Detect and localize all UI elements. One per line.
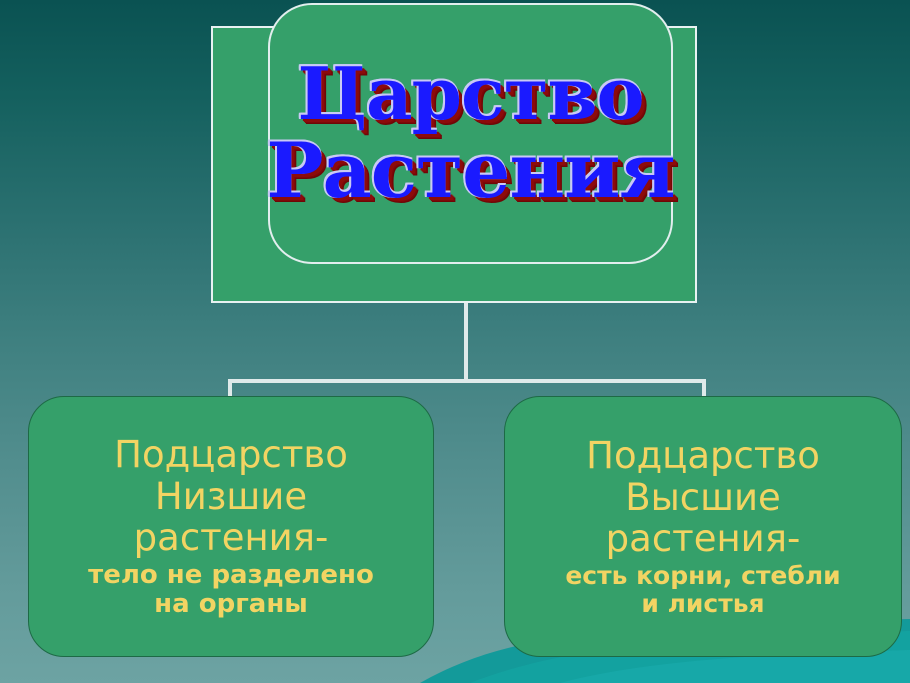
node-lower-plants-title-line-3: растения-: [114, 517, 348, 558]
node-higher-plants-desc-line-2: и листья: [565, 590, 840, 618]
title-line-1: Царство: [297, 59, 643, 130]
node-higher-plants-title: Подцарство Высшие растения-: [586, 435, 820, 559]
kingdom-title-card: Царство Растения: [268, 3, 673, 264]
node-lower-plants-desc-line-1: тело не разделено: [88, 561, 374, 590]
node-higher-plants-desc-line-1: есть корни, стебли: [565, 562, 840, 590]
title-line-2: Растения: [266, 134, 674, 208]
connector-vertical-trunk: [464, 303, 468, 383]
node-lower-plants-desc-line-2: на органы: [88, 590, 374, 619]
connector-horizontal-bar: [228, 379, 706, 383]
node-higher-plants-title-line-2: Высшие: [586, 477, 820, 518]
node-lower-plants: Подцарство Низшие растения- тело не разд…: [28, 396, 434, 657]
node-lower-plants-description: тело не разделено на органы: [88, 561, 374, 619]
slide-canvas: Царство Растения Подцарство Низшие расте…: [0, 0, 910, 683]
node-lower-plants-title-line-1: Подцарство: [114, 434, 348, 475]
node-lower-plants-title: Подцарство Низшие растения-: [114, 434, 348, 558]
node-higher-plants-title-line-1: Подцарство: [586, 435, 820, 476]
node-higher-plants: Подцарство Высшие растения- есть корни, …: [504, 396, 902, 657]
node-higher-plants-title-line-3: растения-: [586, 518, 820, 559]
node-higher-plants-description: есть корни, стебли и листья: [565, 562, 840, 618]
node-lower-plants-title-line-2: Низшие: [114, 476, 348, 517]
